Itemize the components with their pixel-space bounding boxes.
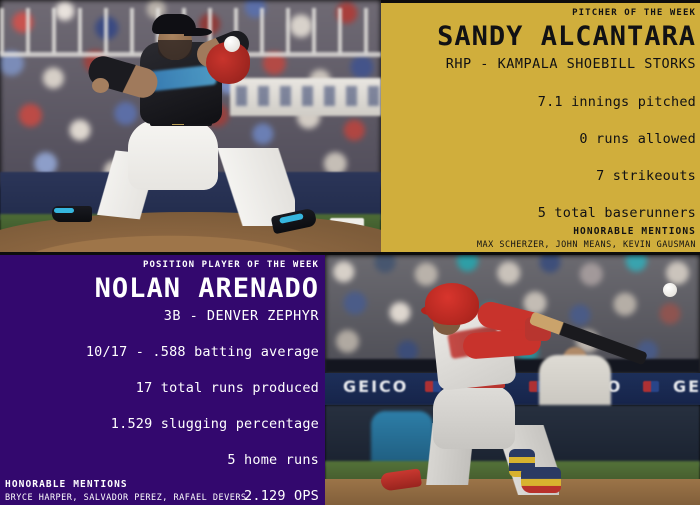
- stat-line: 1.529 slugging percentage: [0, 416, 319, 432]
- stat-line: 5 home runs: [0, 452, 319, 468]
- honorable-mentions-names: BRYCE HARPER, SALVADOR PEREZ, RAFAEL DEV…: [5, 493, 247, 503]
- baseball: [663, 283, 677, 297]
- hitter-name: NOLAN ARENADO: [0, 274, 319, 303]
- stat-line: 7 strikeouts: [381, 168, 696, 184]
- ad-board-lettering: [236, 86, 381, 106]
- hitter-card-eyebrow: POSITION PLAYER OF THE WEEK: [0, 260, 319, 270]
- hitter-photo: GEICO GEICO GEICO: [325, 252, 700, 505]
- pitcher-name: SANDY ALCANTARA: [381, 22, 696, 51]
- batting-helmet: [425, 283, 479, 325]
- pitcher-photo: [0, 0, 381, 252]
- stat-line: 10/17 - .588 batting average: [0, 344, 319, 360]
- pitcher-of-the-week-panel: PITCHER OF THE WEEK SANDY ALCANTARA RHP …: [381, 0, 700, 255]
- stat-line: 0 runs allowed: [381, 131, 696, 147]
- honorable-mentions-title: HONORABLE MENTIONS: [477, 226, 696, 237]
- baseball: [224, 36, 240, 52]
- batter-pants: [433, 385, 515, 449]
- wall-ad-text: GEICO: [343, 377, 408, 396]
- pitcher-back-cleat: [52, 206, 92, 222]
- pitcher-card-eyebrow: PITCHER OF THE WEEK: [381, 8, 696, 18]
- pitcher-position-team: RHP - KAMPALA SHOEBILL STORKS: [381, 56, 696, 72]
- stat-line: 5 total baserunners: [381, 205, 696, 221]
- batter-front-cleat: [521, 467, 561, 493]
- pitcher-pants: [128, 120, 218, 190]
- player-of-the-week-graphic: PITCHER OF THE WEEK SANDY ALCANTARA RHP …: [0, 0, 700, 505]
- stat-line: 17 total runs produced: [0, 380, 319, 396]
- pitcher-honorable-mentions: HONORABLE MENTIONS MAX SCHERZER, JOHN ME…: [477, 226, 696, 250]
- pitcher-cap-brim: [184, 28, 212, 36]
- hitter-honorable-mentions: HONORABLE MENTIONS BRYCE HARPER, SALVADO…: [5, 479, 247, 503]
- pitcher-beard: [158, 40, 192, 60]
- pitcher-stat-list: 7.1 innings pitched 0 runs allowed 7 str…: [381, 94, 696, 221]
- position-player-of-the-week-panel: POSITION PLAYER OF THE WEEK NOLAN ARENAD…: [0, 252, 325, 505]
- stat-line: 7.1 innings pitched: [381, 94, 696, 110]
- hitter-position-team: 3B - DENVER ZEPHYR: [0, 308, 319, 324]
- honorable-mentions-title: HONORABLE MENTIONS: [5, 479, 247, 490]
- wall-ad-text: GEICO: [673, 377, 700, 396]
- mlb-logo: [643, 381, 659, 392]
- pitcher-left-hand: [92, 78, 109, 93]
- honorable-mentions-names: MAX SCHERZER, JOHN MEANS, KEVIN GAUSMAN: [477, 240, 696, 250]
